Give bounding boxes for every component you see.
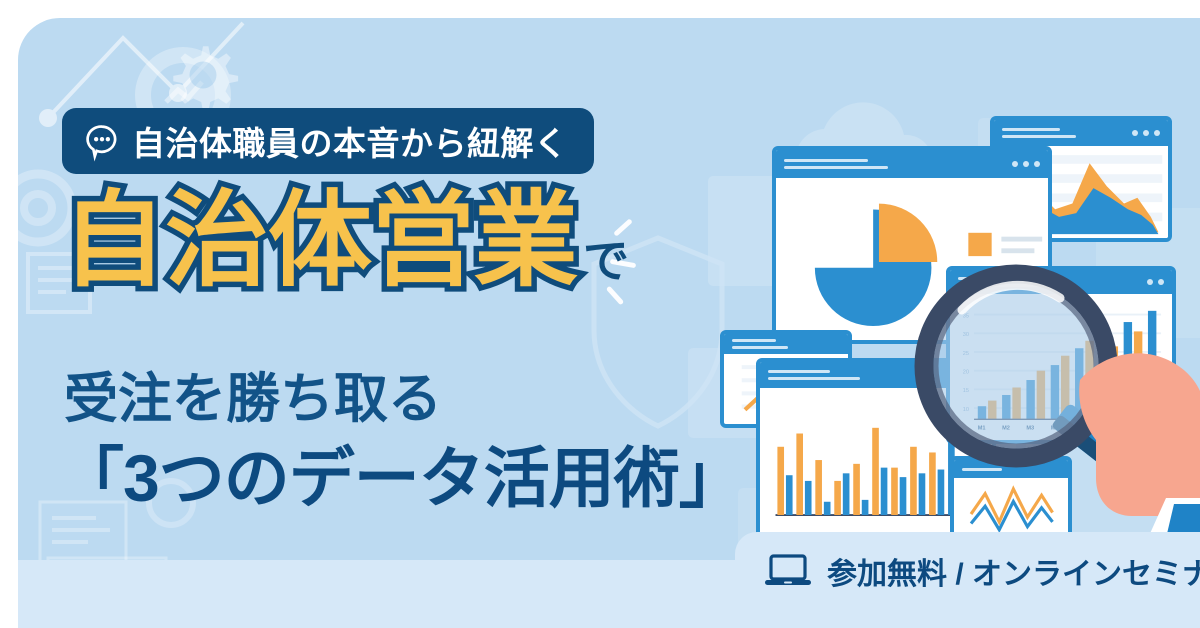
headline-particle: で — [583, 238, 629, 296]
window-titlebar — [776, 150, 1048, 178]
headline-keyword: 自治体営業 — [62, 186, 577, 296]
hand-holding-magnifier — [1070, 308, 1200, 538]
footer-text: 参加無料 / オンラインセミナー — [827, 549, 1200, 593]
headline-line-3: 「3つのデータ活用術」 — [58, 425, 744, 521]
window-titlebar — [994, 120, 1168, 146]
speech-bubble-icon — [84, 123, 120, 159]
data-dashboard-illustration: 353025 201510 — [678, 58, 1200, 578]
headline-line-2: 受注を勝ち取る — [64, 354, 442, 433]
seminar-banner: 353025 201510 — [0, 0, 1200, 628]
gear-icon — [158, 30, 248, 120]
laptop-icon — [765, 554, 811, 588]
headline-main-row: 自治体営業 で — [62, 186, 629, 296]
window-titlebar — [724, 334, 848, 354]
eyebrow-badge[interactable]: 自治体職員の本音から紐解く — [62, 108, 594, 174]
footer-bar[interactable]: 参加無料 / オンラインセミナー — [735, 532, 1200, 610]
eyebrow-badge-text: 自治体職員の本音から紐解く — [132, 117, 568, 165]
